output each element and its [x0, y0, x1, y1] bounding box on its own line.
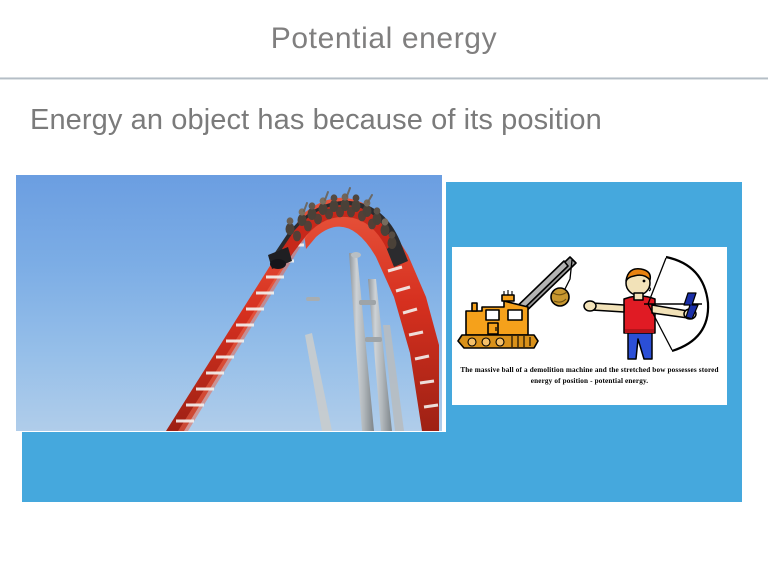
illustration-caption: The massive ball of a demolition machine…	[456, 365, 723, 387]
wrecking-ball	[551, 288, 569, 306]
roller-coaster-photo	[16, 175, 442, 431]
header-divider	[0, 77, 768, 80]
demolition-crane-icon	[458, 257, 576, 348]
slide-subtitle: Energy an object has because of its posi…	[30, 104, 740, 137]
archer-figure-icon	[584, 257, 708, 359]
archer-front-arm	[652, 305, 688, 318]
illustration-artwork	[452, 247, 727, 365]
archer-shorts	[628, 331, 652, 359]
slide-canvas: Potential energy Energy an object has be…	[0, 0, 768, 561]
page-title: Potential energy	[0, 22, 768, 56]
archer-rear-arm	[592, 303, 624, 312]
slide-header: Potential energy	[0, 0, 768, 78]
archer-shirt	[624, 296, 655, 333]
blue-accent-panel-bottom	[22, 432, 742, 502]
potential-energy-illustration-card: The massive ball of a demolition machine…	[452, 247, 727, 405]
